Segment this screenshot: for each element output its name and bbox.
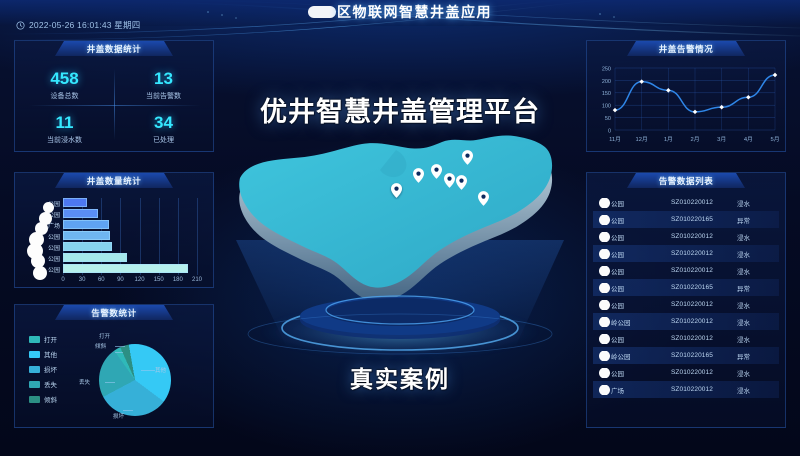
x-axis-tick: 12月	[636, 136, 648, 143]
table-cell-code: SZ010220165	[671, 284, 737, 291]
table-cell-code: SZ010220165	[671, 216, 737, 223]
stats-grid: 458 设备总数 13 当前告警数 11 当前浸水数 34 已处理	[15, 58, 213, 151]
bar-fill	[63, 264, 188, 273]
legend-label: 其他	[44, 349, 57, 359]
table-cell-status: 浸水	[737, 368, 771, 378]
stat-value: 458	[15, 70, 114, 87]
bar-series: 公园公园广场公园公园公园公园	[63, 198, 197, 275]
table-cell-status: 浸水	[737, 266, 771, 276]
map-pin-marker[interactable]	[431, 164, 442, 179]
table-cell-location: 公园	[593, 249, 671, 259]
table-cell-status: 浸水	[737, 317, 771, 327]
pie-slice-label: 丢失	[79, 378, 90, 386]
bar-x-tick: 30	[79, 277, 86, 283]
table-panel-title: 告警数据列表	[587, 175, 785, 187]
bar-x-axis: 0306090120150180210	[63, 277, 197, 287]
stat-label: 当前浸水数	[15, 135, 114, 145]
stat-current-flooding[interactable]: 11 当前浸水数	[15, 114, 114, 145]
pie-legend-item[interactable]: 其他	[29, 349, 57, 359]
pie-slice-label: 其他	[155, 366, 166, 374]
x-axis-tick: 4月	[744, 136, 753, 143]
redacted-location-block	[599, 300, 610, 310]
table-cell-location: 公园	[593, 215, 671, 225]
table-row[interactable]: 广场SZ010220012浸水	[593, 381, 779, 398]
pie-leader-line	[105, 382, 115, 383]
alarm-table-panel: 告警数据列表 公园SZ010220012浸水公园SZ010220165异常公园S…	[586, 172, 786, 428]
pie-panel-header: 告警数统计	[15, 305, 213, 322]
bar-chart-panel: 井盖数量统计 公园公园广场公园公园公园公园 030609012015018021…	[14, 172, 214, 288]
table-cell-status: 异常	[737, 351, 771, 361]
redacted-name-block	[308, 6, 336, 18]
redacted-location-block	[599, 317, 610, 327]
y-axis-tick: 0	[608, 128, 611, 134]
bar-fill	[63, 231, 110, 240]
redacted-location-block	[599, 249, 610, 259]
app-header: 区物联网智慧井盖应用 2022-05-26 16:01:43 星期四	[0, 0, 800, 30]
bar-row[interactable]: 公园	[63, 253, 197, 262]
x-axis-tick: 5月	[770, 136, 779, 143]
legend-swatch	[29, 336, 40, 343]
line-panel-header: 井盖告警情况	[587, 41, 785, 58]
bar-x-tick: 120	[135, 277, 145, 283]
table-cell-location: 岭公园	[593, 317, 671, 327]
legend-label: 损坏	[44, 364, 57, 374]
table-row[interactable]: 公园SZ010220012浸水	[593, 228, 779, 245]
clock-icon	[16, 21, 25, 30]
pie-chart-panel: 告警数统计 打开其他损坏丢失倾斜 其他损坏丢失打开倾斜	[14, 304, 214, 428]
bar-row[interactable]: 公园	[63, 231, 197, 240]
pie-disc	[99, 344, 171, 416]
stat-value: 34	[114, 114, 213, 131]
table-cell-code: SZ010220012	[671, 318, 737, 325]
bar-x-tick: 210	[192, 277, 202, 283]
bar-fill	[63, 253, 127, 262]
redacted-location-block	[599, 351, 610, 361]
bar-fill	[63, 242, 112, 251]
bar-x-tick: 180	[173, 277, 183, 283]
bar-row[interactable]: 公园	[63, 264, 197, 273]
table-cell-location: 公园	[593, 232, 671, 242]
table-cell-status: 浸水	[737, 232, 771, 242]
y-axis-tick: 250	[602, 66, 611, 72]
stat-handled[interactable]: 34 已处理	[114, 114, 213, 145]
table-cell-status: 浸水	[737, 334, 771, 344]
bar-row[interactable]: 广场	[63, 220, 197, 229]
map-pin-marker[interactable]	[456, 175, 467, 190]
line-data-point[interactable]	[693, 110, 698, 115]
region-map[interactable]	[228, 120, 572, 370]
table-row[interactable]: 公园SZ010220012浸水	[593, 262, 779, 279]
center-stage: 优井智慧井盖管理平台 真实案例	[228, 60, 572, 430]
legend-label: 倾斜	[44, 394, 57, 404]
redacted-location-block	[599, 198, 610, 208]
table-row[interactable]: 公园SZ010220012浸水	[593, 296, 779, 313]
redacted-location-block	[599, 283, 610, 293]
table-cell-location: 公园	[593, 266, 671, 276]
line-panel-title: 井盖告警情况	[587, 43, 785, 55]
pie-leader-line	[115, 352, 123, 353]
pie-leader-line	[141, 370, 155, 371]
bar-x-tick: 60	[98, 277, 105, 283]
legend-swatch	[29, 396, 40, 403]
redacted-location-block	[599, 334, 610, 344]
bar-category-label: 公园	[48, 254, 60, 263]
pie-slice-label: 打开	[99, 332, 110, 340]
table-row[interactable]: 公园SZ010220012浸水	[593, 245, 779, 262]
line-data-point[interactable]	[639, 79, 644, 84]
bar-fill	[63, 220, 109, 229]
stat-label: 当前告警数	[114, 91, 213, 101]
stat-current-alarms[interactable]: 13 当前告警数	[114, 70, 213, 101]
table-cell-status: 异常	[737, 283, 771, 293]
legend-swatch	[29, 366, 40, 373]
bar-panel-header: 井盖数量统计	[15, 173, 213, 190]
table-cell-code: SZ010220012	[671, 369, 737, 376]
map-pin-marker[interactable]	[391, 183, 402, 198]
table-row[interactable]: 岭公园SZ010220165异常	[593, 347, 779, 364]
pie-leader-line	[115, 346, 125, 347]
stat-label: 设备总数	[15, 91, 114, 101]
stat-value: 13	[114, 70, 213, 87]
table-cell-code: SZ010220012	[671, 233, 737, 240]
pie-panel-title: 告警数统计	[15, 307, 213, 319]
platform-title: 优井智慧井盖管理平台	[228, 90, 572, 129]
divider-horizontal	[29, 105, 201, 106]
pie-slice-label: 损坏	[113, 412, 124, 420]
datetime-text: 2022-05-26 16:01:43 星期四	[29, 19, 140, 31]
redacted-location-block	[599, 266, 610, 276]
map-pin-marker[interactable]	[462, 150, 473, 165]
x-axis-tick: 3月	[717, 136, 726, 143]
pie-legend-item[interactable]: 打开	[29, 334, 57, 344]
line-data-point[interactable]	[613, 108, 618, 113]
table-cell-status: 浸水	[737, 198, 771, 208]
redacted-location-block	[599, 215, 610, 225]
table-cell-status: 异常	[737, 215, 771, 225]
table-row[interactable]: 公园SZ010220165异常	[593, 279, 779, 296]
line-chart-svg: 05010015020025011月12月1月2月3月4月5月	[587, 58, 785, 151]
x-axis-tick: 1月	[664, 136, 673, 143]
platform-subtitle: 真实案例	[228, 360, 572, 394]
x-axis-tick: 2月	[690, 136, 699, 143]
line-data-point[interactable]	[719, 105, 724, 110]
table-row[interactable]: 岭公园SZ010220012浸水	[593, 313, 779, 330]
table-cell-code: SZ010220012	[671, 199, 737, 206]
table-cell-location: 公园	[593, 198, 671, 208]
redacted-location-block	[599, 232, 610, 242]
pie-leader-line	[123, 410, 133, 411]
x-axis-tick: 11月	[609, 136, 621, 143]
stats-panel: 井盖数据统计 458 设备总数 13 当前告警数 11 当前浸水数 34 已处理	[14, 40, 214, 152]
bar-x-tick: 0	[61, 277, 64, 283]
alarm-table-body[interactable]: 公园SZ010220012浸水公园SZ010220165异常公园SZ010220…	[587, 190, 785, 398]
stats-panel-title: 井盖数据统计	[15, 43, 213, 55]
table-cell-code: SZ010220012	[671, 301, 737, 308]
stat-label: 已处理	[114, 135, 213, 145]
table-cell-code: SZ010220012	[671, 335, 737, 342]
line-chart[interactable]: 05010015020025011月12月1月2月3月4月5月	[587, 58, 785, 151]
legend-swatch	[29, 351, 40, 358]
datetime-display: 2022-05-26 16:01:43 星期四	[16, 19, 140, 31]
pie-legend: 打开其他损坏丢失倾斜	[29, 334, 57, 409]
table-cell-status: 浸水	[737, 385, 771, 395]
legend-swatch	[29, 381, 40, 388]
map-pin-marker[interactable]	[413, 168, 424, 183]
pie-chart[interactable]: 打开其他损坏丢失倾斜 其他损坏丢失打开倾斜	[15, 322, 213, 427]
line-data-point[interactable]	[746, 95, 751, 100]
bar-row[interactable]: 公园	[63, 209, 197, 218]
pie-slice-label: 倾斜	[95, 342, 106, 350]
table-cell-location: 公园	[593, 283, 671, 293]
table-cell-code: SZ010220165	[671, 352, 737, 359]
app-title-text: 区物联网智慧井盖应用	[337, 4, 492, 20]
redacted-label-block	[33, 266, 47, 280]
legend-label: 丢失	[44, 379, 57, 389]
stat-total-devices[interactable]: 458 设备总数	[15, 70, 114, 101]
table-row[interactable]: 公园SZ010220012浸水	[593, 194, 779, 211]
bar-category-label: 公园	[48, 232, 60, 241]
pie-legend-item[interactable]: 倾斜	[29, 394, 57, 404]
y-axis-tick: 150	[602, 91, 611, 97]
pie-legend-item[interactable]: 损坏	[29, 364, 57, 374]
legend-label: 打开	[44, 334, 57, 344]
map-pin-marker[interactable]	[444, 173, 455, 188]
table-cell-location: 广场	[593, 385, 671, 395]
bar-panel-title: 井盖数量统计	[15, 175, 213, 187]
table-panel-header: 告警数据列表	[587, 173, 785, 190]
bar-row[interactable]: 公园	[63, 242, 197, 251]
table-cell-code: SZ010220012	[671, 267, 737, 274]
map-pin-marker[interactable]	[478, 191, 489, 206]
table-cell-location: 岭公园	[593, 351, 671, 361]
pie-legend-item[interactable]: 丢失	[29, 379, 57, 389]
line-data-point[interactable]	[666, 88, 671, 93]
bar-fill	[63, 209, 98, 218]
pie-graphic: 其他损坏丢失打开倾斜	[93, 336, 177, 420]
bar-category-label: 公园	[48, 243, 60, 252]
redacted-location-block	[599, 385, 610, 395]
y-axis-tick: 100	[602, 104, 611, 110]
redacted-location-block	[599, 368, 610, 378]
stat-value: 11	[15, 114, 114, 131]
bar-x-tick: 150	[154, 277, 164, 283]
bar-chart[interactable]: 公园公园广场公园公园公园公园 0306090120150180210	[15, 190, 213, 287]
table-cell-status: 浸水	[737, 249, 771, 259]
bar-category-label: 公园	[48, 265, 60, 274]
table-row[interactable]: 公园SZ010220165异常	[593, 211, 779, 228]
table-row[interactable]: 公园SZ010220012浸水	[593, 330, 779, 347]
table-row[interactable]: 公园SZ010220012浸水	[593, 364, 779, 381]
table-cell-location: 公园	[593, 300, 671, 310]
line-data-point[interactable]	[773, 73, 778, 78]
line-chart-panel: 井盖告警情况 05010015020025011月12月1月2月3月4月5月	[586, 40, 786, 152]
bar-row[interactable]: 公园	[63, 198, 197, 207]
bar-x-tick: 90	[117, 277, 124, 283]
table-cell-code: SZ010220012	[671, 250, 737, 257]
table-cell-code: SZ010220012	[671, 386, 737, 393]
y-axis-tick: 50	[605, 116, 611, 122]
table-cell-location: 公园	[593, 334, 671, 344]
table-cell-status: 浸水	[737, 300, 771, 310]
bar-fill	[63, 198, 87, 207]
y-axis-tick: 200	[602, 79, 611, 85]
stats-panel-header: 井盖数据统计	[15, 41, 213, 58]
table-cell-location: 公园	[593, 368, 671, 378]
